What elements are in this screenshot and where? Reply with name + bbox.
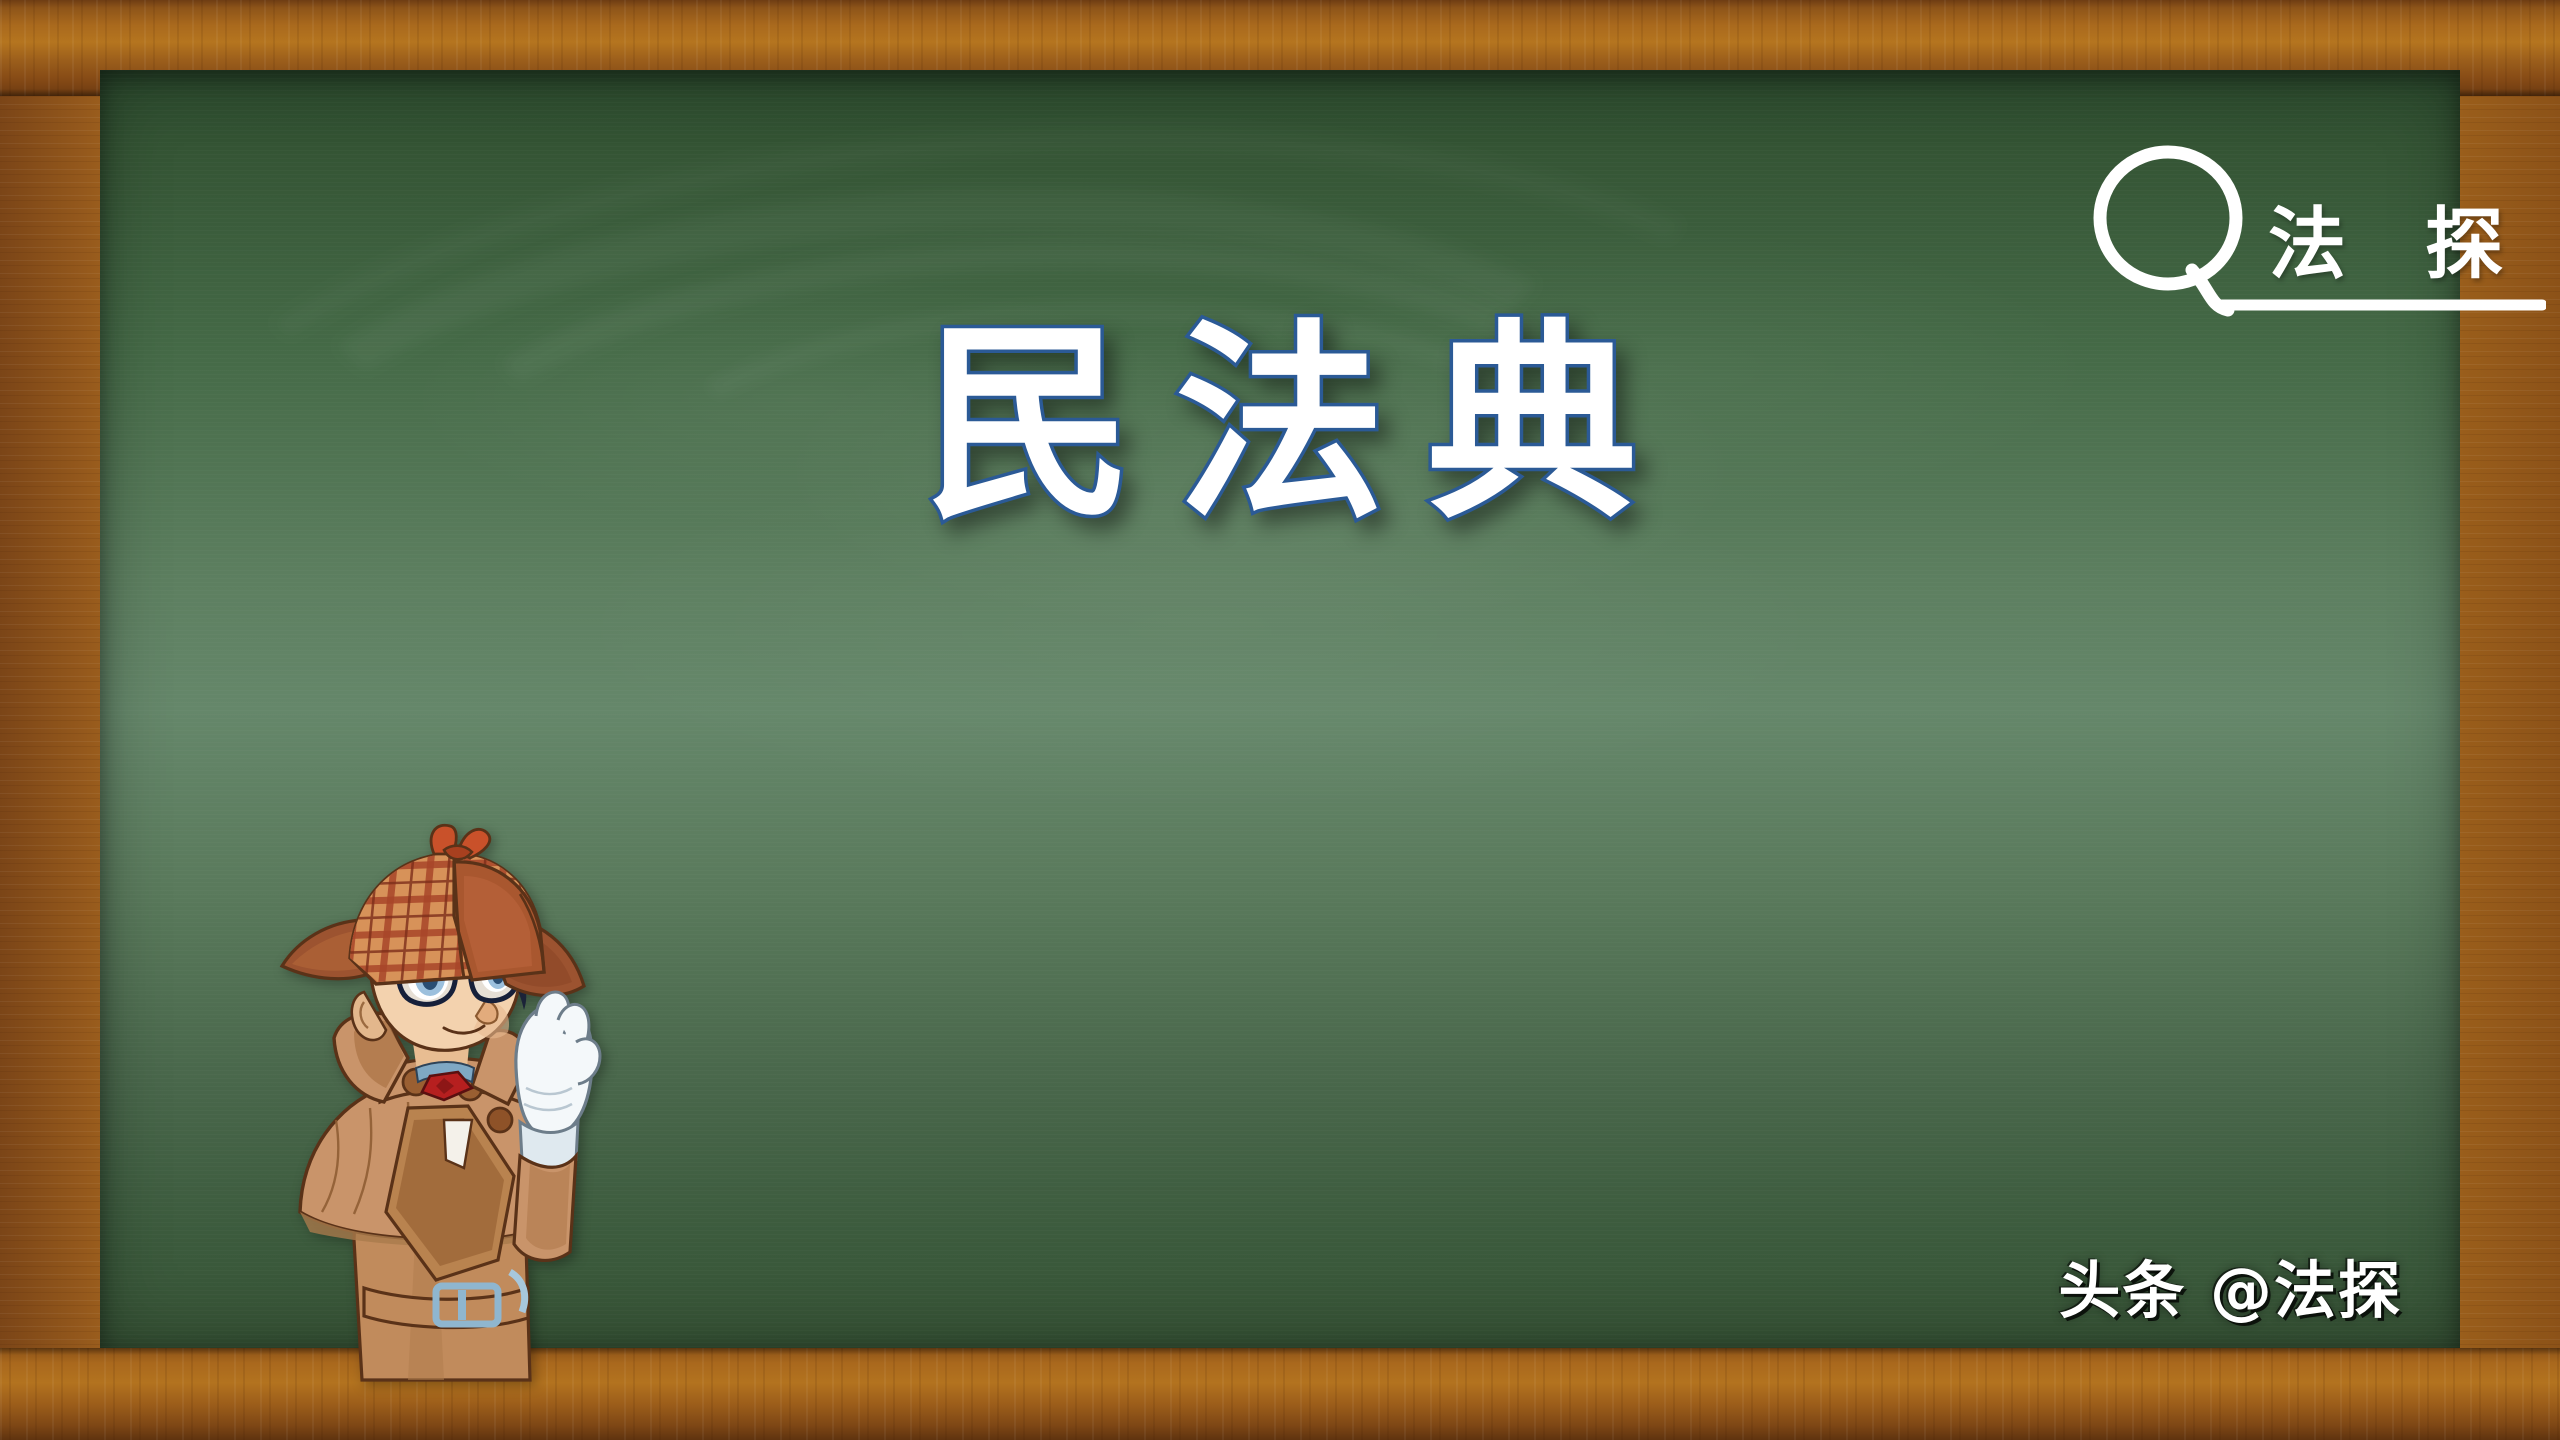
brand-logo: 法 探 [2080,140,2560,325]
page-title: 民法典 [100,320,2460,530]
detective-character-illustration [258,820,628,1402]
chalkboard: 民法典 法 探 [100,70,2460,1348]
watermark-text: 头条 @法探 [2058,1240,2402,1330]
wooden-frame: 民法典 法 探 [0,0,2560,1440]
logo-underline [2216,292,2546,314]
logo-text: 法 探 [2268,182,2529,294]
